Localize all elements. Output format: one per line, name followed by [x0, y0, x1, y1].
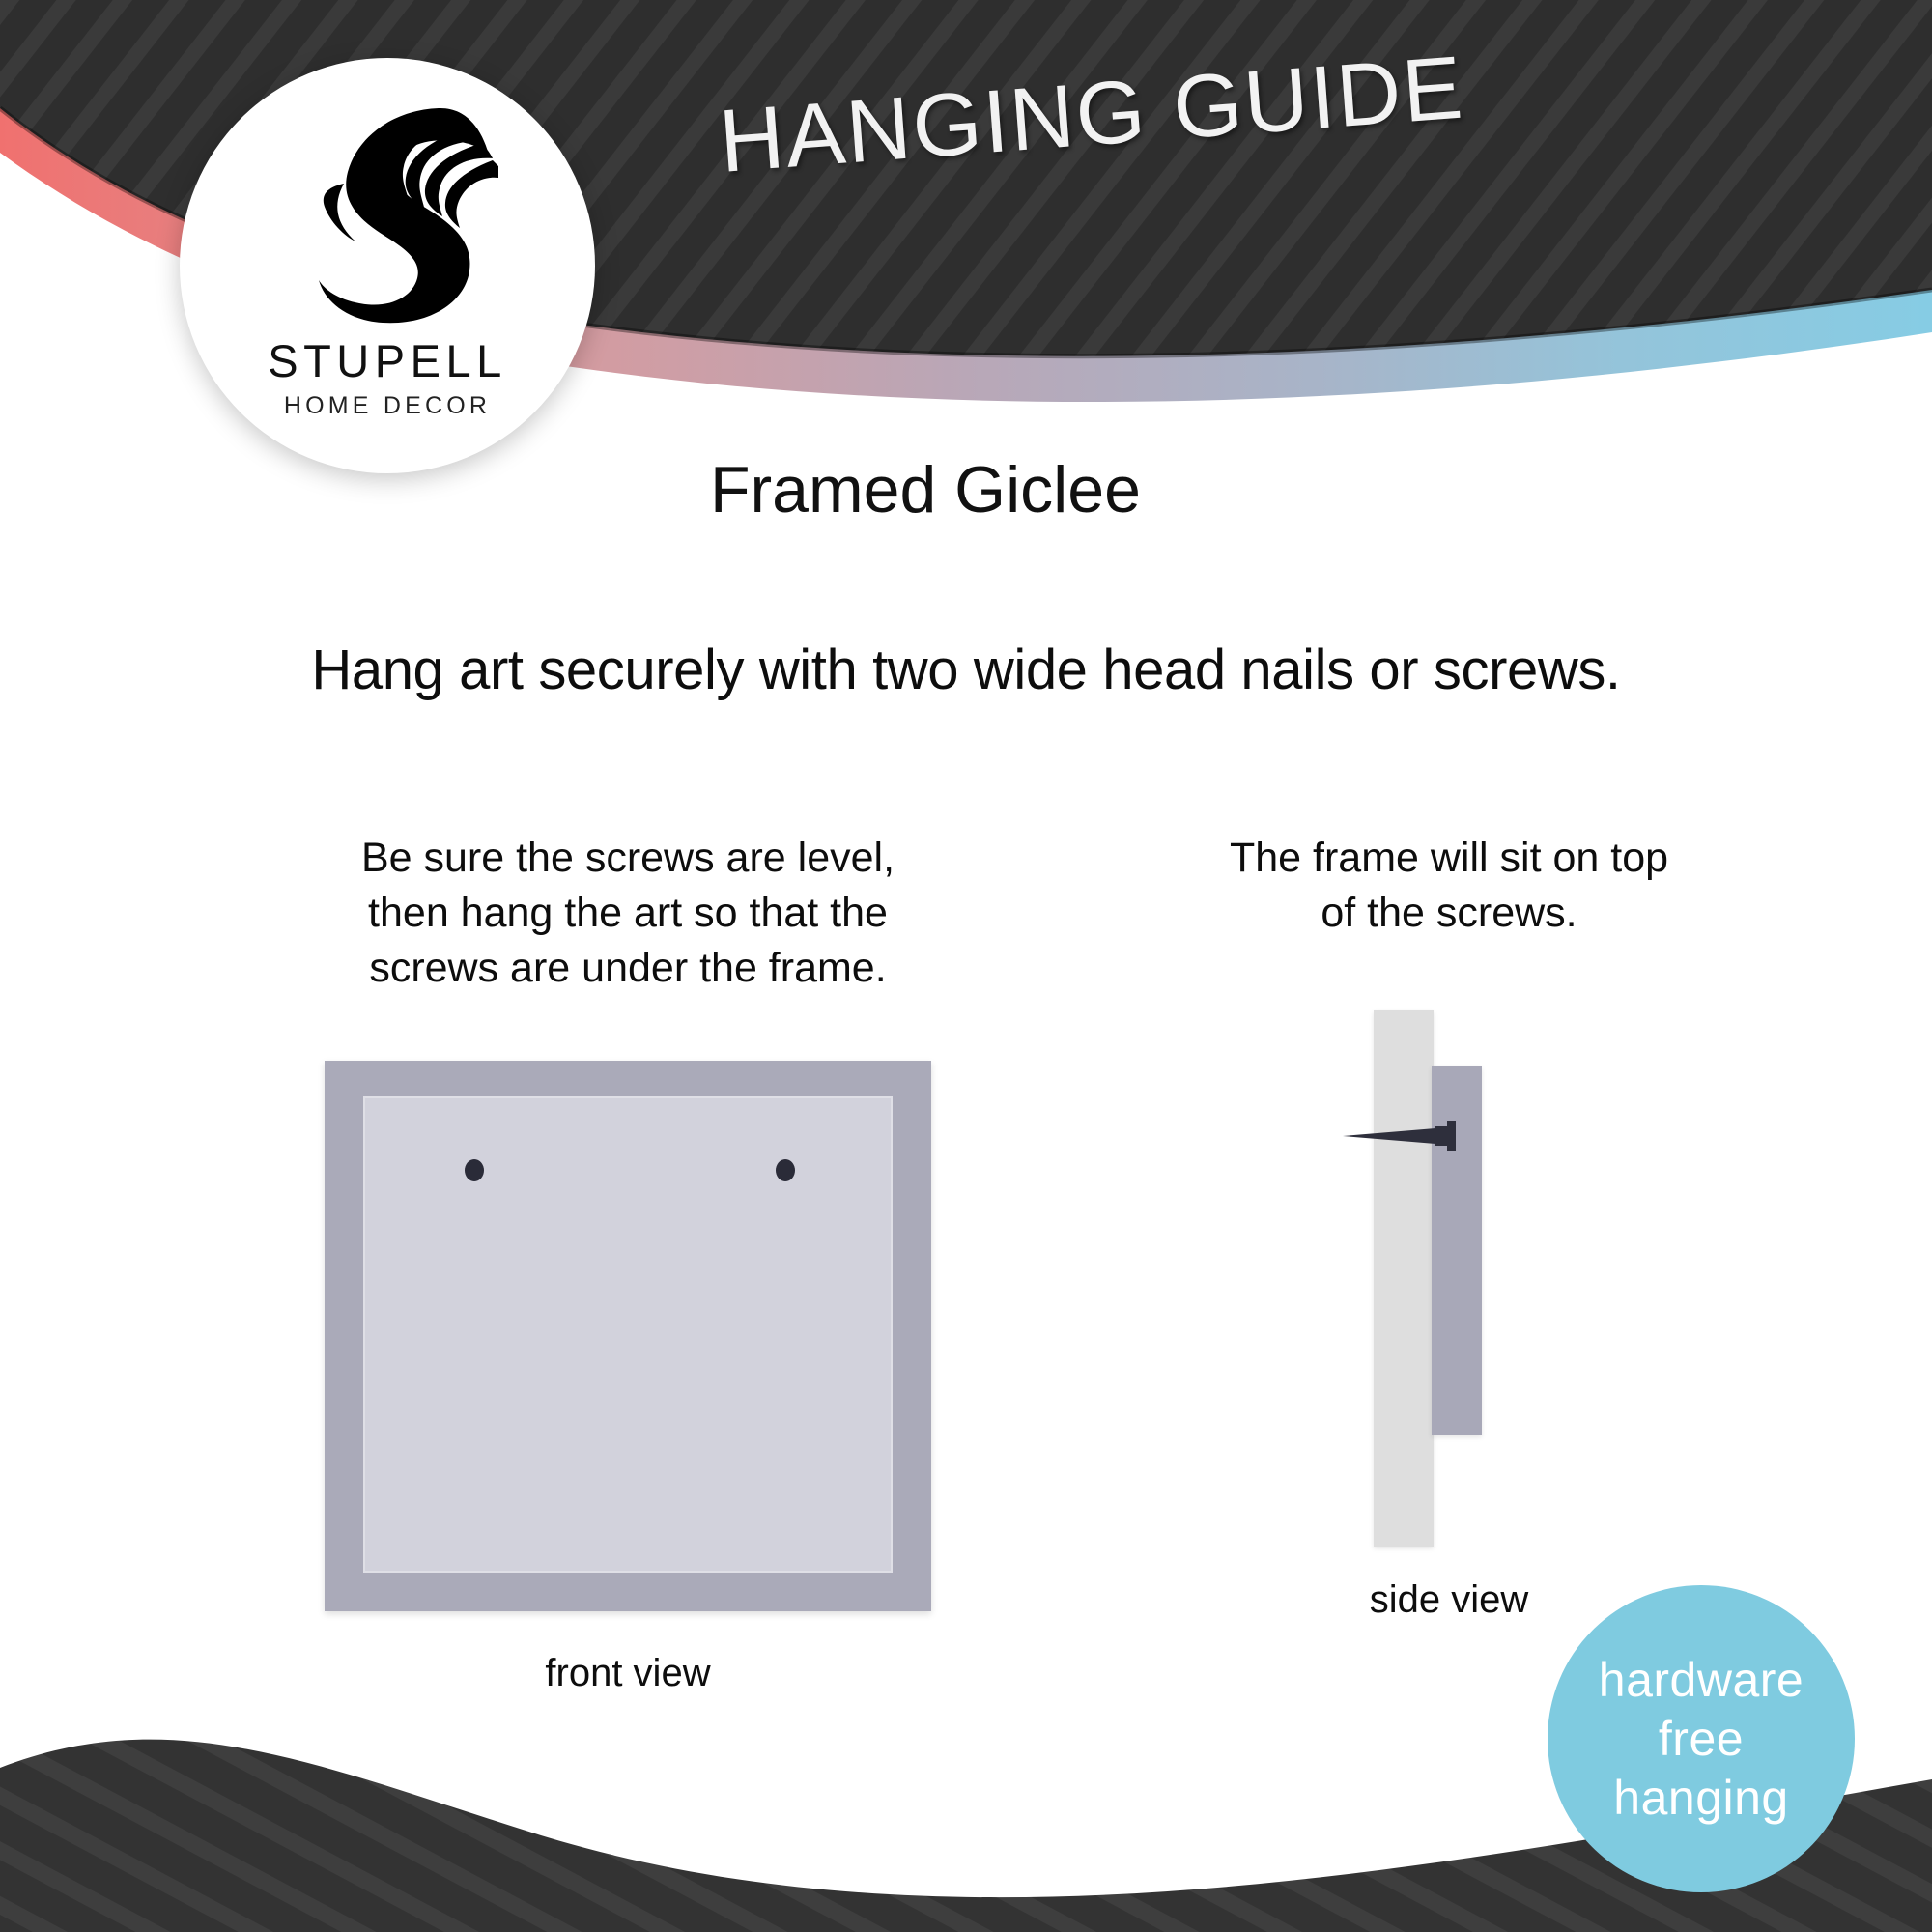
screw-hole-left-icon: [465, 1159, 484, 1181]
side-view-instruction-line-2: of the screws.: [1101, 886, 1797, 941]
badge-line-2: free: [1659, 1710, 1744, 1769]
front-view-column: Be sure the screws are level, then hang …: [222, 831, 1034, 1695]
brand-logo-badge: STUPELL HOME DECOR: [180, 58, 595, 473]
front-view-mat: [363, 1096, 893, 1573]
front-view-instruction-line-1: Be sure the screws are level,: [222, 831, 1034, 886]
hardware-free-hanging-badge: hardware free hanging: [1548, 1585, 1855, 1892]
badge-line-3: hanging: [1613, 1769, 1788, 1828]
product-type-heading: Framed Giclee: [710, 452, 1141, 527]
badge-line-1: hardware: [1599, 1651, 1804, 1710]
side-view-instruction-line-1: The frame will sit on top: [1101, 831, 1797, 886]
brand-name: STUPELL: [268, 338, 506, 384]
side-view-wall: [1374, 1010, 1434, 1547]
front-view-instruction: Be sure the screws are level, then hang …: [222, 831, 1034, 997]
hanging-guide-page: STUPELL HOME DECOR HANGING GUIDE Framed …: [0, 0, 1932, 1932]
stupell-swoosh-logo-icon: [276, 91, 498, 332]
brand-tagline: HOME DECOR: [284, 394, 491, 418]
front-view-frame-diagram: [325, 1061, 931, 1611]
side-view-instruction: The frame will sit on top of the screws.: [1101, 831, 1797, 941]
lede-text: Hang art securely with two wide head nai…: [0, 638, 1932, 702]
side-view-column: The frame will sit on top of the screws.…: [1101, 831, 1797, 1622]
nail-side-icon: [1343, 1119, 1478, 1153]
front-view-caption: front view: [222, 1652, 1034, 1695]
diagram-columns: Be sure the screws are level, then hang …: [0, 831, 1932, 1700]
front-view-instruction-line-3: screws are under the frame.: [222, 941, 1034, 996]
page-title: HANGING GUIDE: [716, 38, 1467, 193]
front-view-instruction-line-2: then hang the art so that the: [222, 886, 1034, 941]
screw-hole-right-icon: [776, 1159, 795, 1181]
side-view-frame-diagram: [1304, 970, 1594, 1549]
